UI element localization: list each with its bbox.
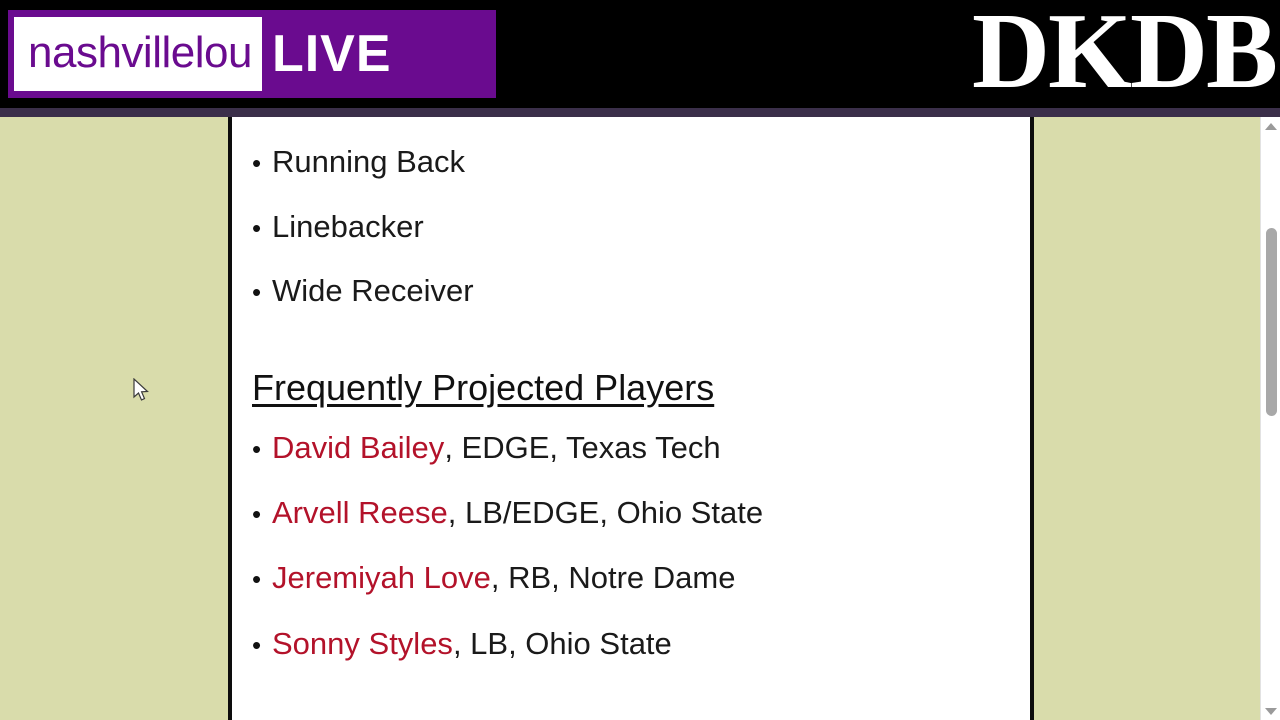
list-item: • Linebacker bbox=[252, 209, 1010, 245]
list-item: • Running Back bbox=[252, 144, 1010, 180]
player-list-item: • Sonny Styles , LB, Ohio State bbox=[252, 626, 1010, 662]
bullet-icon: • bbox=[252, 150, 272, 176]
bullet-icon: • bbox=[252, 215, 272, 241]
player-list-item: • David Bailey , EDGE, Texas Tech bbox=[252, 430, 1010, 466]
bullet-icon: • bbox=[252, 436, 272, 462]
scrollbar-thumb[interactable] bbox=[1266, 228, 1277, 416]
position-label: Running Back bbox=[272, 144, 465, 180]
position-label: Linebacker bbox=[272, 209, 424, 245]
nashvillelou-live-logo: nashvillelou LIVE bbox=[5, 7, 499, 101]
scroll-up-arrow-icon[interactable] bbox=[1261, 117, 1280, 135]
player-details: , LB/EDGE, Ohio State bbox=[448, 495, 763, 531]
bullet-icon: • bbox=[252, 632, 272, 658]
player-list-item: • Arvell Reese , LB/EDGE, Ohio State bbox=[252, 495, 1010, 531]
player-name: Arvell Reese bbox=[272, 495, 448, 531]
player-details: , LB, Ohio State bbox=[453, 626, 672, 662]
player-name: Jeremiyah Love bbox=[272, 560, 491, 596]
screen-root: nashvillelou LIVE DKDB • Running Back • … bbox=[0, 0, 1280, 720]
player-details: , RB, Notre Dame bbox=[491, 560, 736, 596]
document-content: • Running Back • Linebacker • Wide Recei… bbox=[232, 144, 1030, 720]
broadcast-header-bar: nashvillelou LIVE DKDB bbox=[0, 0, 1280, 108]
vertical-scrollbar[interactable] bbox=[1260, 117, 1280, 720]
section-heading: Frequently Projected Players bbox=[252, 367, 1010, 409]
bullet-icon: • bbox=[252, 566, 272, 592]
brand-live-text: LIVE bbox=[272, 28, 392, 80]
scroll-down-arrow-icon[interactable] bbox=[1261, 702, 1280, 720]
mouse-cursor-icon bbox=[133, 378, 151, 404]
player-details: , EDGE, Texas Tech bbox=[444, 430, 720, 466]
player-name: David Bailey bbox=[272, 430, 444, 466]
player-name: Sonny Styles bbox=[272, 626, 453, 662]
dkdb-network-logo: DKDB bbox=[972, 0, 1276, 108]
list-item: • Wide Receiver bbox=[252, 273, 1010, 309]
document-column[interactable]: • Running Back • Linebacker • Wide Recei… bbox=[228, 117, 1034, 720]
player-list-item: • Jeremiyah Love , RB, Notre Dame bbox=[252, 560, 1010, 596]
bullet-icon: • bbox=[252, 501, 272, 527]
position-label: Wide Receiver bbox=[272, 273, 474, 309]
bullet-icon: • bbox=[252, 279, 272, 305]
brand-name-text: nashvillelou bbox=[14, 17, 262, 91]
header-accent-strip bbox=[0, 108, 1280, 117]
